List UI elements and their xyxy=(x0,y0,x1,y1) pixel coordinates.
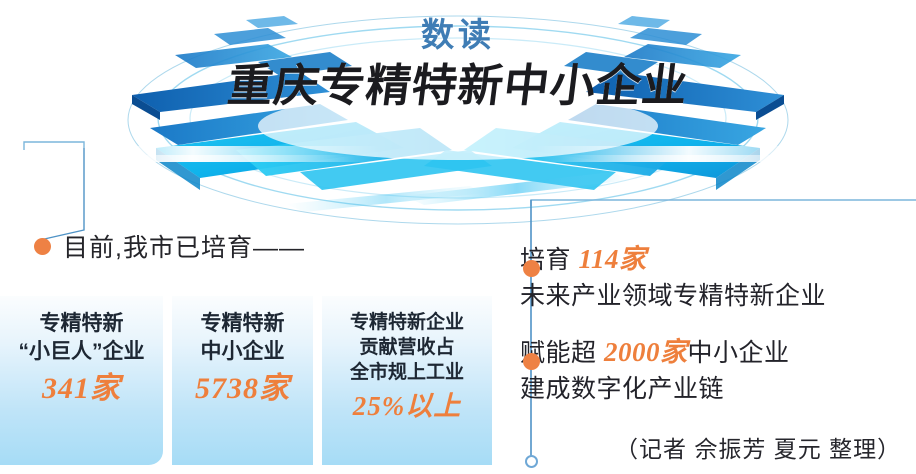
right-item-1-line-2: 未来产业领域专精特新企业 xyxy=(520,279,826,315)
stat-card-1-line-2: “小巨人”企业 xyxy=(0,338,163,366)
orange-dot-icon-2 xyxy=(523,353,540,370)
stat-card-2-line-2: 中小企业 xyxy=(172,338,313,366)
hollow-circle-icon xyxy=(525,455,538,468)
stat-card-1-line-1: 专精特新 xyxy=(0,310,163,338)
right-item-2-line-2: 建成数字化产业链 xyxy=(520,372,789,408)
stat-card-3-value: 25%以上 xyxy=(322,389,492,424)
stat-card-3-line-1: 专精特新企业 xyxy=(322,310,492,335)
lead-row: 目前,我市已培育—— xyxy=(34,228,305,264)
right-item-2: 赋能超 2000家中小企业 建成数字化产业链 xyxy=(520,333,789,407)
stat-card-2: 专精特新 中小企业 5738家 xyxy=(172,296,313,465)
orange-dot-icon xyxy=(34,238,51,255)
right-item-1-number: 114家 xyxy=(578,244,646,274)
right-item-2-suffix: 中小企业 xyxy=(687,339,789,367)
stat-card-1: 专精特新 “小巨人”企业 341家 xyxy=(0,296,163,465)
infographic-canvas: 数读 重庆专精特新中小企业 目前,我市已培育—— 专精特新 “小巨人”企业 34… xyxy=(0,0,916,474)
stat-card-2-line-1: 专精特新 xyxy=(172,310,313,338)
stat-card-3-line-2: 贡献营收占 xyxy=(322,335,492,360)
credit-line: （记者 佘振芳 夏元 整理） xyxy=(615,430,901,464)
right-item-2-line-1: 赋能超 2000家中小企业 xyxy=(520,333,789,372)
stat-card-2-value: 5738家 xyxy=(172,369,313,408)
orange-dot-icon-1 xyxy=(523,260,540,277)
right-item-2-number: 2000家 xyxy=(604,337,688,367)
right-item-1: 培育 114家 未来产业领域专精特新企业 xyxy=(520,240,826,314)
stat-card-1-value: 341家 xyxy=(0,369,163,408)
stat-card-3: 专精特新企业 贡献营收占 全市规上工业 25%以上 xyxy=(322,296,492,465)
stat-card-3-line-3: 全市规上工业 xyxy=(322,360,492,385)
right-item-1-line-1: 培育 114家 xyxy=(520,240,826,279)
lead-text: 目前,我市已培育—— xyxy=(63,228,305,264)
